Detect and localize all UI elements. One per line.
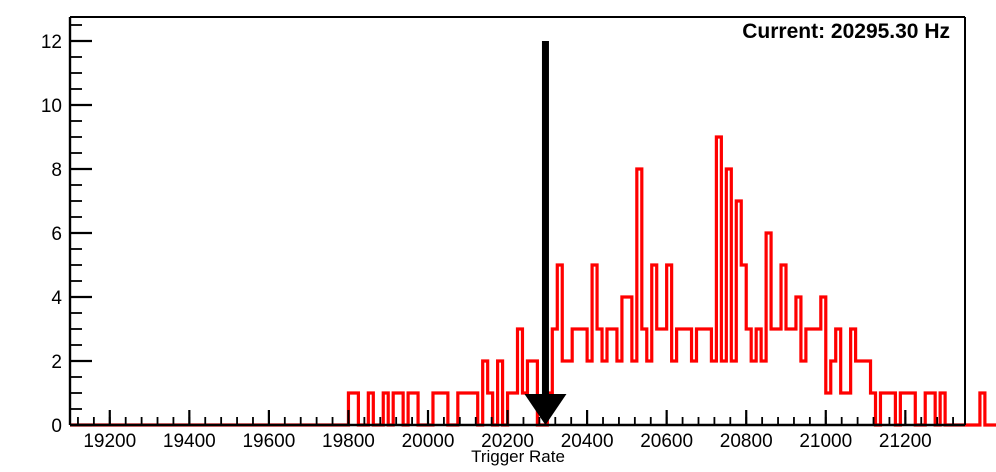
- x-axis-title: Trigger Rate: [471, 447, 565, 466]
- y-axis-tick-label: 8: [51, 160, 62, 181]
- x-axis-tick-label: 20600: [640, 431, 693, 452]
- y-axis-tick-label: 0: [51, 416, 62, 437]
- y-axis-tick-label: 4: [51, 288, 62, 309]
- x-axis-tick-label: 19400: [163, 431, 216, 452]
- x-axis-tick-label: 20400: [561, 431, 614, 452]
- x-axis-tick-label: 19600: [242, 431, 295, 452]
- x-axis-tick-label: 21000: [799, 431, 852, 452]
- y-axis-tick-label: 12: [41, 32, 62, 53]
- x-axis-tick-label: 19800: [322, 431, 375, 452]
- x-axis-tick-label: 19200: [83, 431, 136, 452]
- y-axis-tick-label: 2: [51, 352, 62, 373]
- current-rate-annotation: Current: 20295.30 Hz: [742, 20, 950, 43]
- histogram-canvas: 1920019400196001980020000202002040020600…: [0, 0, 996, 472]
- y-axis-tick-label: 10: [41, 96, 62, 117]
- x-axis-tick-label: 20000: [402, 431, 455, 452]
- trigger-rate-histogram: 1920019400196001980020000202002040020600…: [0, 0, 996, 472]
- x-axis-tick-label: 20800: [720, 431, 773, 452]
- x-axis-tick-label: 21200: [879, 431, 932, 452]
- y-axis-tick-label: 6: [51, 224, 62, 245]
